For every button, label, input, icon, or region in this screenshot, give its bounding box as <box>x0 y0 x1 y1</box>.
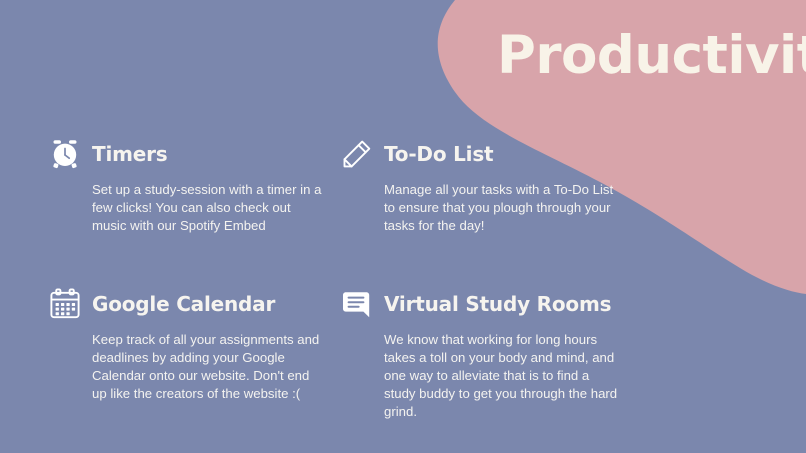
feature-header: Timers <box>48 135 310 173</box>
feature-google-calendar: Google Calendar Keep track of all your a… <box>48 285 310 403</box>
calendar-icon <box>48 287 82 321</box>
feature-grid: Timers Set up a study-session with a tim… <box>0 0 806 453</box>
alarm-clock-icon <box>48 137 82 171</box>
productivity-slide: Productivity Timers <box>0 0 806 453</box>
feature-header: Google Calendar <box>48 285 310 323</box>
feature-virtual-study-rooms: Virtual Study Rooms We know that working… <box>340 285 602 421</box>
feature-todo-list: To-Do List Manage all your tasks with a … <box>340 135 602 235</box>
feature-description: We know that working for long hours take… <box>384 331 620 421</box>
feature-title: To-Do List <box>384 142 493 166</box>
feature-header: To-Do List <box>340 135 602 173</box>
feature-header: Virtual Study Rooms <box>340 285 602 323</box>
feature-title: Google Calendar <box>92 292 275 316</box>
feature-description: Manage all your tasks with a To-Do List … <box>384 181 620 235</box>
feature-title: Virtual Study Rooms <box>384 292 611 316</box>
feature-description: Keep track of all your assignments and d… <box>92 331 324 403</box>
feature-description: Set up a study-session with a timer in a… <box>92 181 324 235</box>
chat-bubble-icon <box>340 287 374 321</box>
pencil-icon <box>340 137 374 171</box>
feature-timers: Timers Set up a study-session with a tim… <box>48 135 310 235</box>
feature-title: Timers <box>92 142 167 166</box>
